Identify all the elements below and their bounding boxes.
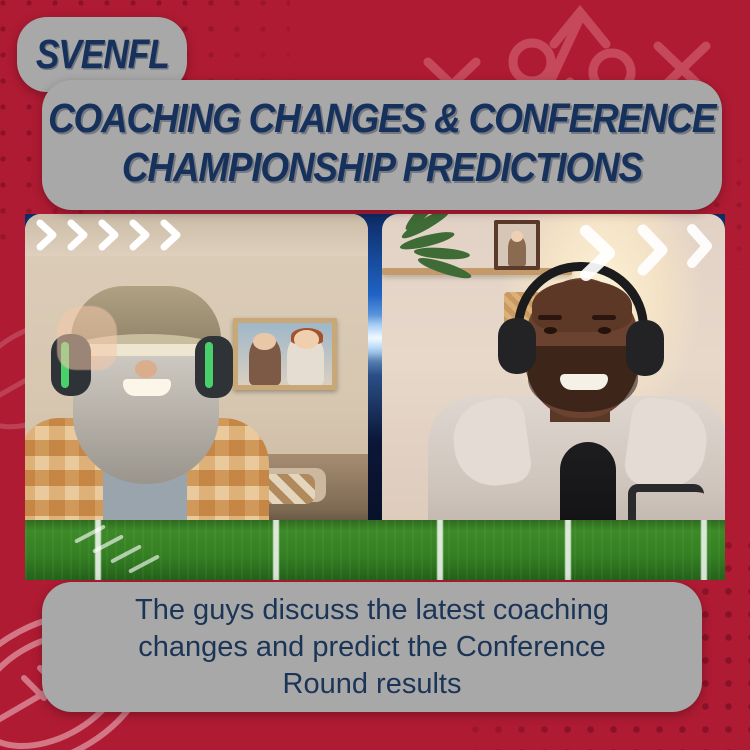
chevron-right-icon	[95, 218, 125, 252]
right-speaker-video[interactable]	[382, 214, 725, 546]
page-title-line-1: COACHING CHANGES & CONFERENCE	[48, 95, 715, 142]
chevron-right-icon	[64, 218, 94, 252]
chevron-right-icon	[33, 218, 63, 252]
yard-line	[273, 520, 279, 580]
hash-mark	[110, 544, 142, 563]
eye-left	[544, 327, 557, 334]
left-speaker-person	[25, 214, 269, 546]
chevron-group-left	[33, 218, 187, 252]
yard-line	[565, 520, 571, 580]
caption-line-3: Round results	[283, 666, 462, 703]
headphone-cup-right	[626, 320, 664, 376]
caption-line-2: changes and predict the Conference	[138, 629, 606, 666]
chevron-right-icon	[681, 222, 719, 270]
title-panel: COACHING CHANGES & CONFERENCE CHAMPIONSH…	[42, 80, 722, 210]
smile	[560, 374, 608, 390]
headphone-cup-right	[195, 336, 233, 398]
chevron-group-right	[573, 222, 719, 284]
caption-panel: The guys discuss the latest coaching cha…	[42, 582, 702, 712]
brand-name: SVENFL	[36, 31, 169, 78]
yard-line	[701, 520, 707, 580]
bed-blanket	[261, 474, 315, 504]
hash-mark	[74, 524, 106, 543]
caption-line-1: The guys discuss the latest coaching	[135, 592, 609, 629]
hash-mark	[128, 554, 160, 573]
yard-line	[95, 520, 101, 580]
smile	[123, 379, 171, 396]
page-title-line-2: CHAMPIONSHIP PREDICTIONS	[122, 144, 642, 191]
raised-hand	[57, 306, 117, 370]
hash-mark	[92, 534, 124, 553]
episode-cover-poster: SVENFL COACHING CHANGES & CONFERENCE CHA…	[0, 0, 750, 750]
eye-right	[598, 327, 611, 334]
chevron-right-icon	[573, 222, 627, 284]
right-speaker-person	[428, 246, 725, 546]
left-speaker-video[interactable]	[25, 214, 368, 546]
video-stage	[25, 214, 725, 580]
headphone-accent-right	[205, 342, 213, 388]
yard-line	[437, 520, 443, 580]
chevron-right-icon	[631, 222, 677, 278]
headphone-cup-left	[498, 318, 536, 374]
chevron-right-icon	[157, 218, 187, 252]
nose	[135, 360, 157, 378]
chevron-right-icon	[126, 218, 156, 252]
football-field-strip	[25, 520, 725, 580]
